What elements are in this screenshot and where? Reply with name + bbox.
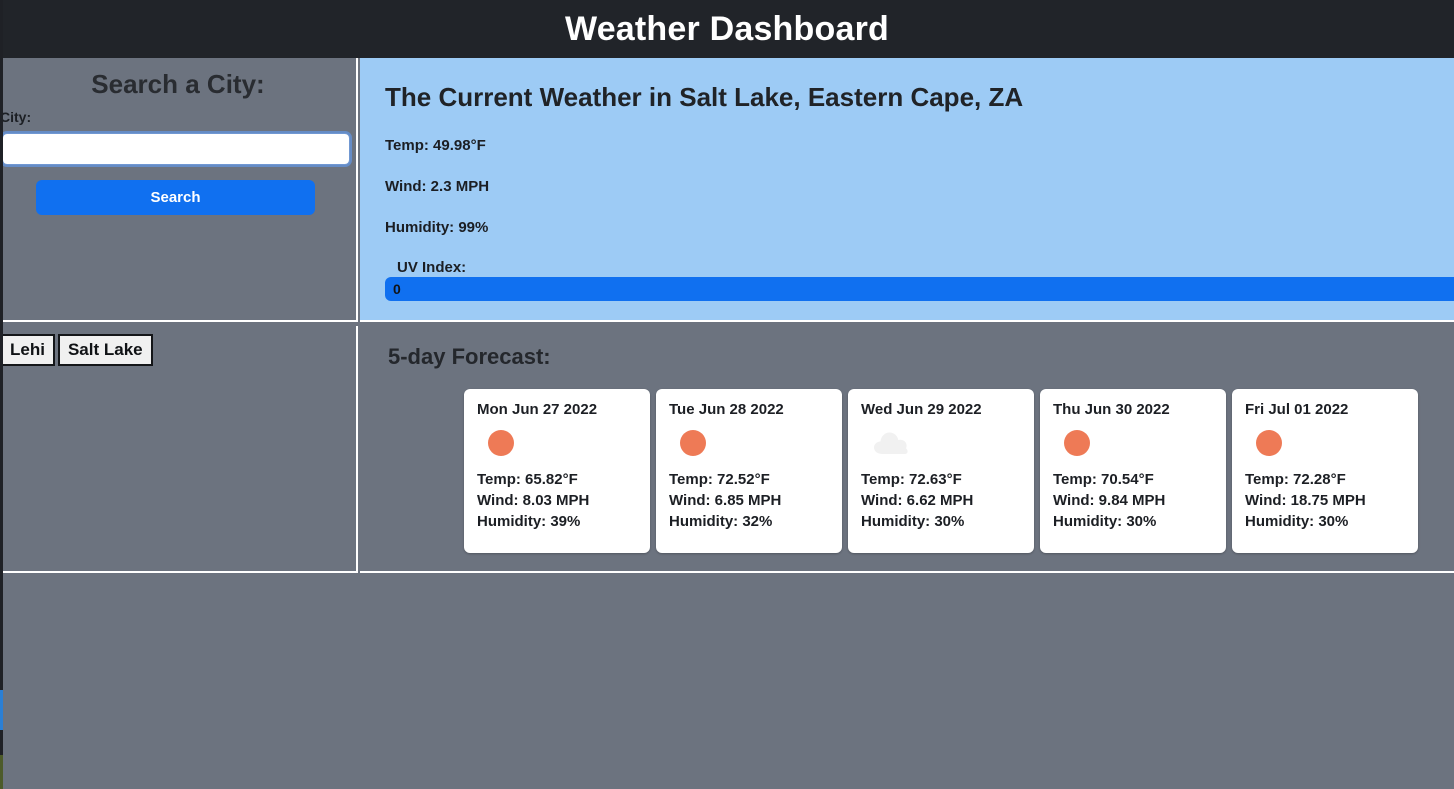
cloud-icon [872, 430, 912, 456]
forecast-wind: Wind: 6.85 MPH [669, 488, 842, 509]
background-window-sliver [0, 0, 3, 789]
forecast-humidity: Humidity: 30% [1245, 509, 1418, 530]
forecast-card: Wed Jun 29 2022 Temp: 72.63°F Wind: 6.62… [848, 389, 1034, 553]
forecast-date: Thu Jun 30 2022 [1053, 401, 1226, 418]
sun-icon [488, 430, 514, 456]
sun-icon [680, 430, 706, 456]
search-input[interactable] [2, 133, 350, 165]
background-sliver-blue-segment [0, 690, 3, 730]
forecast-card: Tue Jun 28 2022 Temp: 72.52°F Wind: 6.85… [656, 389, 842, 553]
forecast-humidity: Humidity: 39% [477, 509, 650, 530]
forecast-wind: Wind: 6.62 MPH [861, 488, 1034, 509]
search-panel: Search a City: City: Search [0, 58, 358, 322]
current-wind: Wind: 2.3 MPH [385, 154, 1454, 195]
forecast-temp: Temp: 72.28°F [1245, 464, 1418, 488]
forecast-date: Tue Jun 28 2022 [669, 401, 842, 418]
forecast-icon-wrap [1245, 422, 1418, 464]
forecast-icon-wrap [861, 422, 1034, 464]
forecast-card: Mon Jun 27 2022 Temp: 65.82°F Wind: 8.03… [464, 389, 650, 553]
city-input-label: City: [0, 109, 31, 125]
app-header: Weather Dashboard [0, 0, 1454, 58]
forecast-icon-wrap [1053, 422, 1226, 464]
forecast-temp: Temp: 72.52°F [669, 464, 842, 488]
forecast-icon-wrap [477, 422, 650, 464]
forecast-humidity: Humidity: 32% [669, 509, 842, 530]
forecast-temp: Temp: 65.82°F [477, 464, 650, 488]
uv-index-bar: 0 [385, 277, 1454, 301]
forecast-wind: Wind: 8.03 MPH [477, 488, 650, 509]
current-weather-title: The Current Weather in Salt Lake, Easter… [385, 82, 1454, 113]
page-background-area [0, 575, 1454, 789]
forecast-date: Wed Jun 29 2022 [861, 401, 1034, 418]
search-history-panel: Lehi Salt Lake [0, 326, 358, 573]
forecast-date: Fri Jul 01 2022 [1245, 401, 1418, 418]
forecast-temp: Temp: 70.54°F [1053, 464, 1226, 488]
forecast-humidity: Humidity: 30% [1053, 509, 1226, 530]
search-history-list: Lehi Salt Lake [0, 334, 356, 366]
history-item-salt-lake[interactable]: Salt Lake [58, 334, 153, 366]
sun-icon [1064, 430, 1090, 456]
history-item-lehi[interactable]: Lehi [0, 334, 55, 366]
forecast-panel: 5-day Forecast: Mon Jun 27 2022 Temp: 65… [360, 326, 1454, 573]
sun-icon [1256, 430, 1282, 456]
forecast-wind: Wind: 9.84 MPH [1053, 488, 1226, 509]
forecast-card: Fri Jul 01 2022 Temp: 72.28°F Wind: 18.7… [1232, 389, 1418, 553]
forecast-heading: 5-day Forecast: [388, 344, 1454, 370]
forecast-humidity: Humidity: 30% [861, 509, 1034, 530]
forecast-temp: Temp: 72.63°F [861, 464, 1034, 488]
search-button[interactable]: Search [36, 180, 315, 215]
forecast-icon-wrap [669, 422, 842, 464]
uv-index-label: UV Index: [385, 236, 1454, 276]
weather-dashboard-page: Weather Dashboard Search a City: City: S… [0, 0, 1454, 789]
forecast-card: Thu Jun 30 2022 Temp: 70.54°F Wind: 9.84… [1040, 389, 1226, 553]
uv-index-value: 0 [385, 281, 401, 297]
current-temp: Temp: 49.98°F [385, 113, 1454, 154]
forecast-wind: Wind: 18.75 MPH [1245, 488, 1418, 509]
page-title: Weather Dashboard [565, 10, 889, 49]
forecast-card-list: Mon Jun 27 2022 Temp: 65.82°F Wind: 8.03… [464, 389, 1454, 553]
background-sliver-green-segment [0, 755, 3, 789]
forecast-date: Mon Jun 27 2022 [477, 401, 650, 418]
current-humidity: Humidity: 99% [385, 195, 1454, 236]
search-panel-heading: Search a City: [0, 58, 356, 100]
